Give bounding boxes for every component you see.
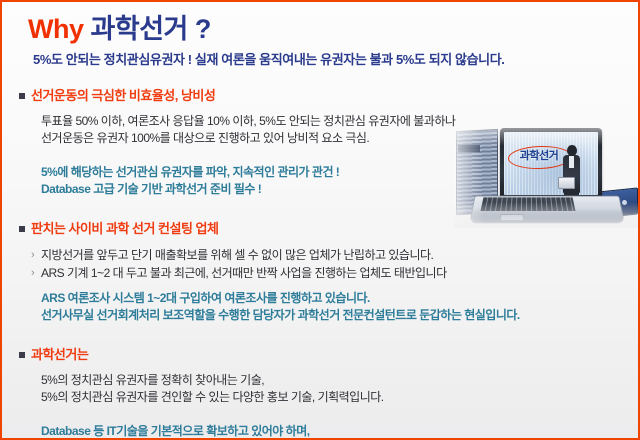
title-main: 과학선거 ? xyxy=(91,14,211,44)
arrow-line: › ARS 기계 1~2 대 두고 불과 최근에, 선거때만 반짝 사업을 진행… xyxy=(2,264,638,282)
spacer xyxy=(2,324,638,345)
section-heading: 판치는 사이비 과학 선거 컨설팅 업체 xyxy=(2,219,638,238)
note-line: 5%에 해당하는 선거관심 유권자를 파악, 지속적인 관리가 관건 ! xyxy=(2,164,638,181)
body-line: 투표율 50% 이하, 여론조사 응답율 10% 이하, 5%도 안되는 정치관… xyxy=(2,113,638,130)
chevron-right-icon: › xyxy=(31,264,34,282)
slide-body: 선거운동의 극심한 비효율성, 낭비성 투표율 50% 이하, 여론조사 응답율… xyxy=(2,86,638,440)
slide-subtitle: 5%도 안되는 정치관심유권자 ! 실재 여론을 움직여내는 유권자는 불과 5… xyxy=(33,49,505,68)
arrow-line: › 지방선거를 앞두고 단기 매출확보를 위해 셀 수 없이 많은 업체가 난립… xyxy=(2,246,638,264)
note-line: Database 고급 기술 기반 과학선거 준비 필수 ! xyxy=(2,181,638,198)
spacer xyxy=(2,406,638,423)
note-line: Database 등 IT기술을 기본적으로 확보하고 있어야 하며, xyxy=(2,423,638,440)
spacer xyxy=(2,198,638,219)
square-bullet-icon xyxy=(19,226,25,232)
section-heading-text: 판치는 사이비 과학 선거 컨설팅 업체 xyxy=(31,221,218,236)
body-line: 5%의 정치관심 유권자를 정확히 찾아내는 기술, xyxy=(2,372,638,389)
section-heading-text: 과학선거는 xyxy=(31,347,88,362)
square-bullet-icon xyxy=(19,93,25,99)
section-fake-consultants: 판치는 사이비 과학 선거 컨설팅 업체 › 지방선거를 앞두고 단기 매출확보… xyxy=(2,219,638,324)
note-line: ARS 여론조사 시스템 1~2대 구입하여 여론조사를 진행하고 있습니다. xyxy=(2,290,638,307)
spacer xyxy=(2,238,638,246)
slide-header: Why 과학선거 ? 5%도 안되는 정치관심유권자 ! 실재 여론을 움직여내… xyxy=(2,2,638,74)
arrow-line-text: 지방선거를 앞두고 단기 매출확보를 위해 셀 수 없이 많은 업체가 난립하고… xyxy=(41,248,433,262)
square-bullet-icon xyxy=(19,352,25,358)
section-heading: 과학선거는 xyxy=(2,345,638,364)
body-line: 선거운동은 유권자 100%를 대상으로 진행하고 있어 낭비적 요소 극심. xyxy=(2,130,638,147)
spacer xyxy=(2,282,638,290)
section-definition: 과학선거는 5%의 정치관심 유권자를 정확히 찾아내는 기술, 5%의 정치관… xyxy=(2,345,638,440)
spacer xyxy=(2,105,638,113)
title-prefix: Why xyxy=(28,14,84,44)
presentation-slide: Why 과학선거 ? 5%도 안되는 정치관심유권자 ! 실재 여론을 움직여내… xyxy=(0,0,640,440)
section-heading-text: 선거운동의 극심한 비효율성, 낭비성 xyxy=(31,88,215,103)
section-inefficiency: 선거운동의 극심한 비효율성, 낭비성 투표율 50% 이하, 여론조사 응답율… xyxy=(2,86,638,198)
spacer xyxy=(2,147,638,164)
note-line: 선거사무실 선거회계처리 보조역할을 수행한 담당자가 과학선거 전문컨설턴트로… xyxy=(2,307,638,324)
page-title: Why 과학선거 ? xyxy=(28,12,211,46)
arrow-line-text: ARS 기계 1~2 대 두고 불과 최근에, 선거때만 반짝 사업을 진행하는… xyxy=(41,266,447,280)
spacer xyxy=(2,364,638,372)
body-line: 5%의 정치관심 유권자를 견인할 수 있는 다양한 홍보 기술, 기획력입니다… xyxy=(2,389,638,406)
section-heading: 선거운동의 극심한 비효율성, 낭비성 xyxy=(2,86,638,105)
chevron-right-icon: › xyxy=(31,246,34,264)
